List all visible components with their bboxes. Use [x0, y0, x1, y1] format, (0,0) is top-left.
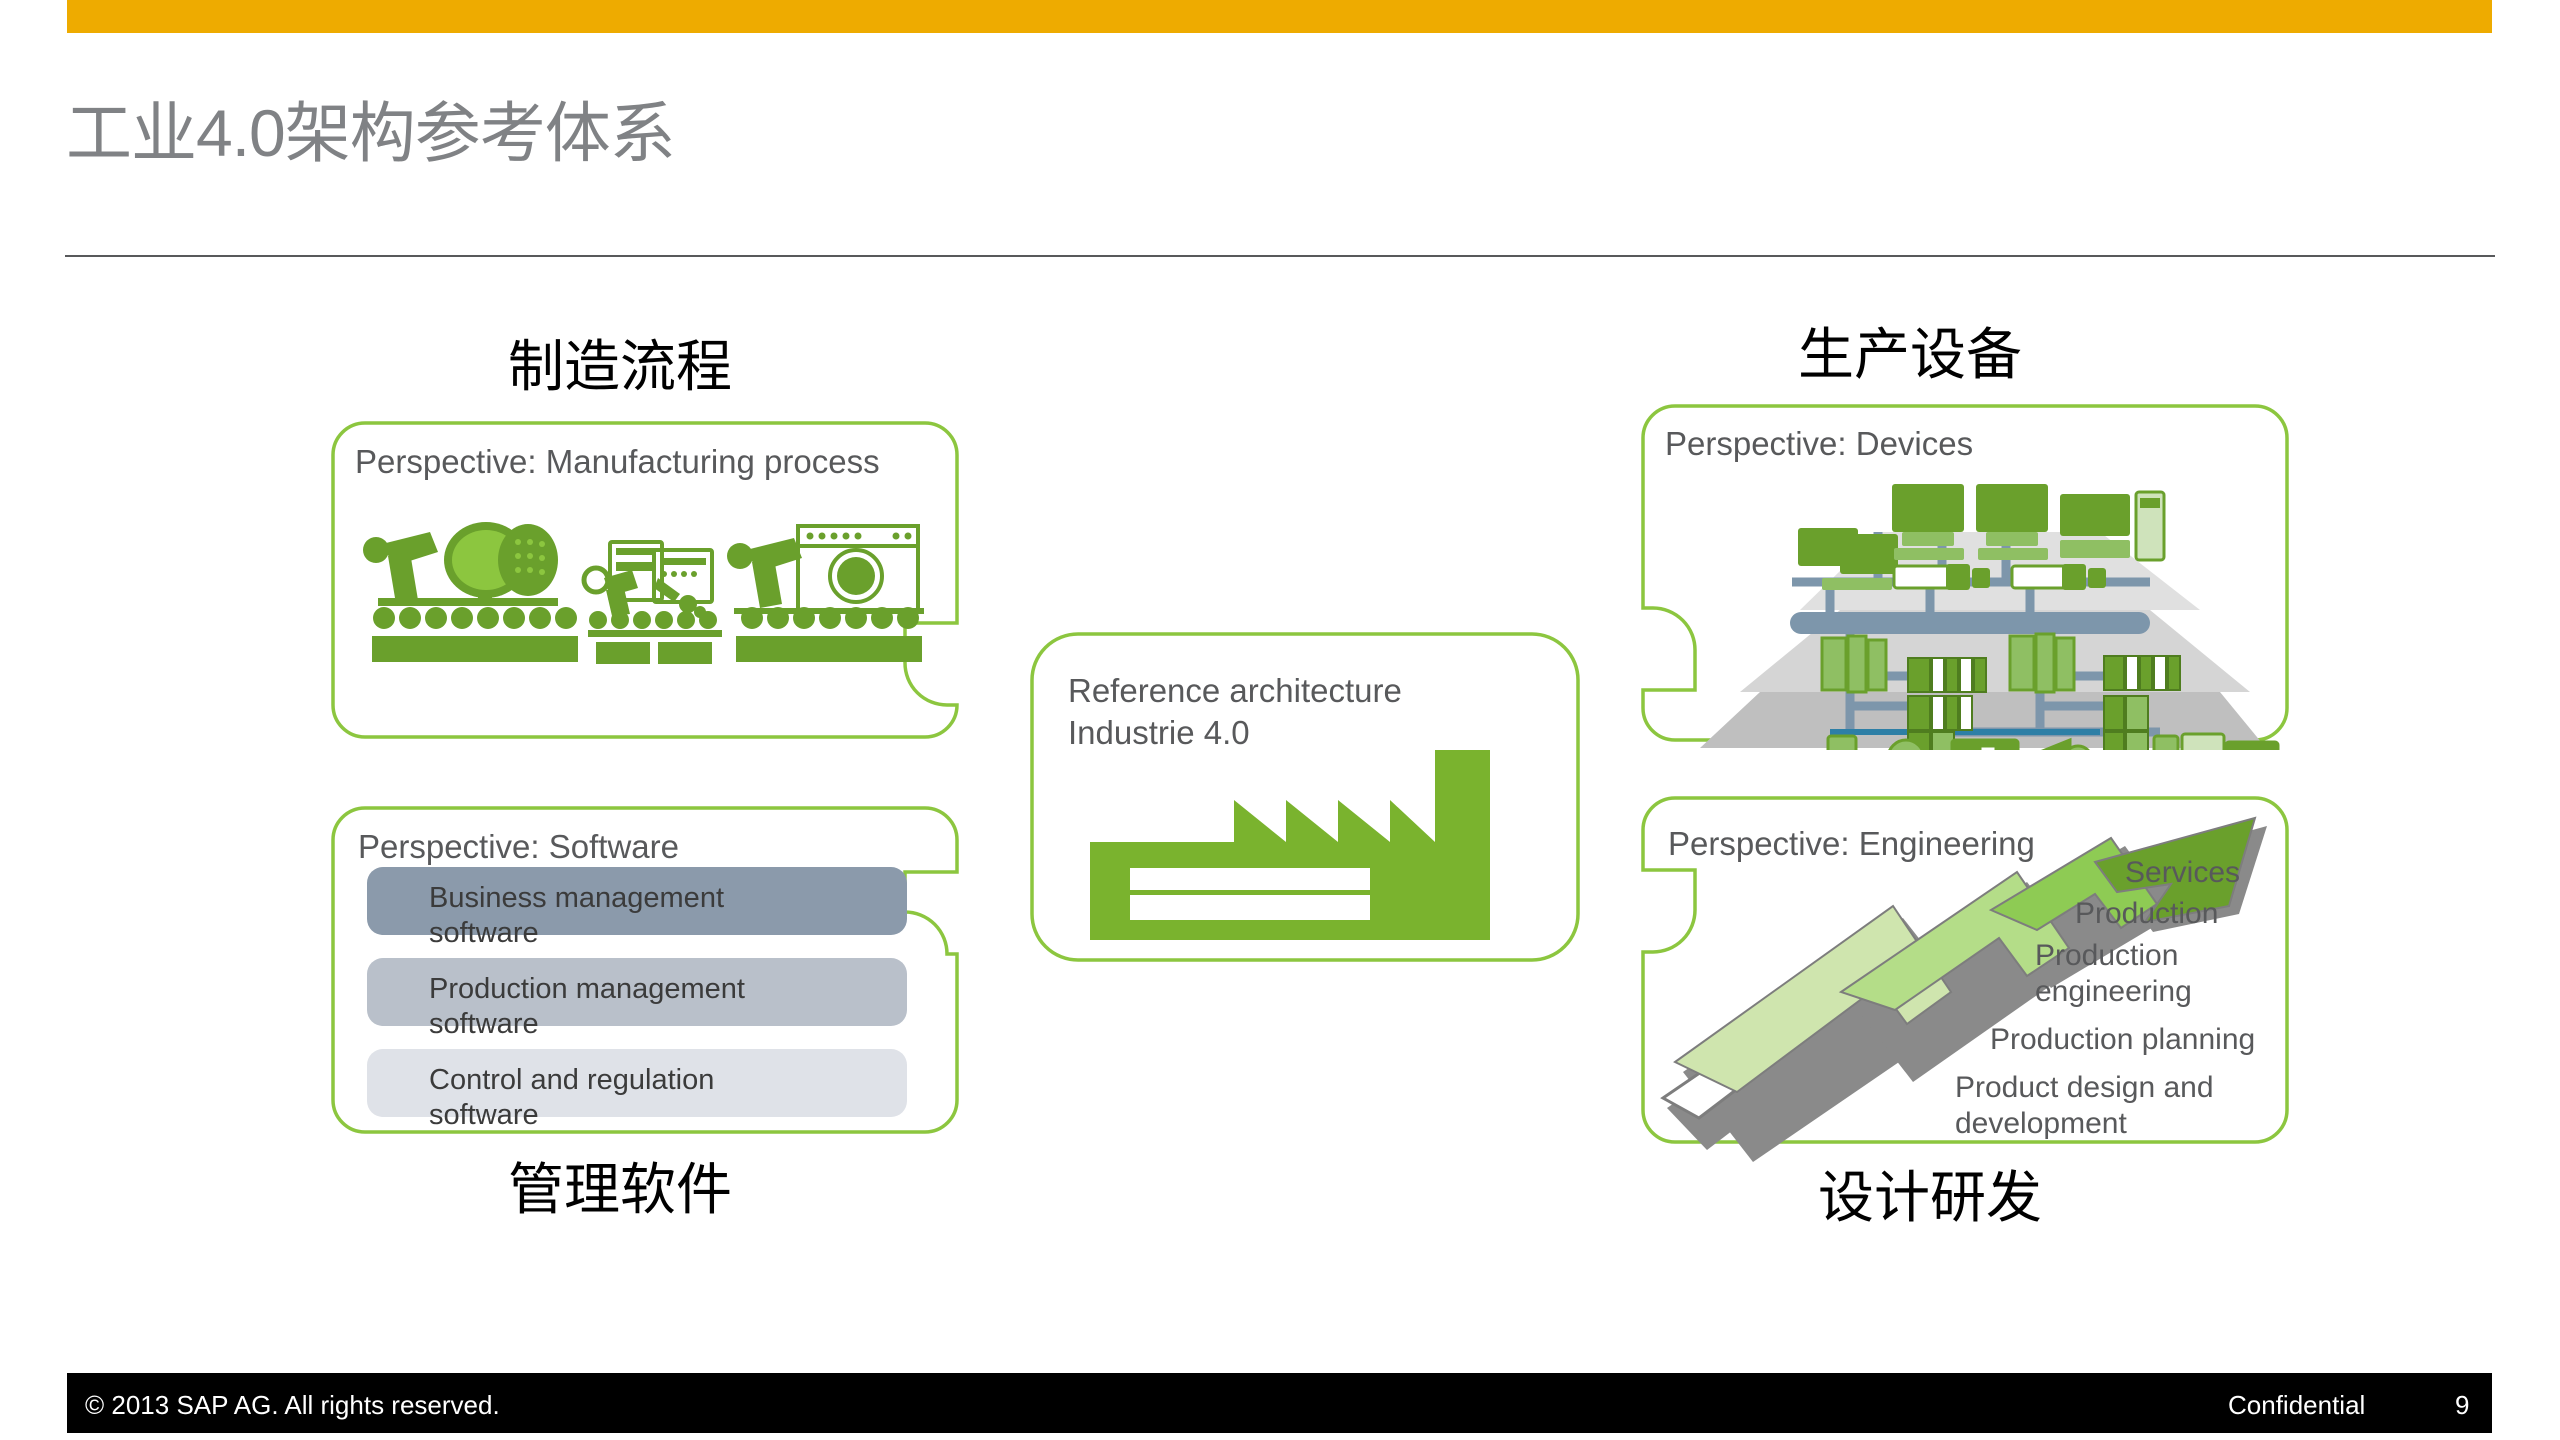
perspective-title-software: Perspective: Software — [358, 828, 679, 866]
software-bar-line1: Production management — [429, 972, 907, 1007]
page-title: 工业4.0架构参考体系 — [66, 100, 675, 166]
top-accent-bar — [67, 0, 2492, 33]
stage-line1: Production — [2035, 938, 2192, 974]
software-bar-business-management[interactable]: Business management software — [367, 867, 907, 935]
software-bar-line1: Business management — [429, 881, 907, 916]
stage-line1: Production planning — [1990, 1022, 2255, 1058]
center-title: Reference architecture Industrie 4.0 — [1068, 670, 1402, 754]
footer-page-number: 9 — [2455, 1390, 2469, 1421]
center-title-line1: Reference architecture — [1068, 670, 1402, 712]
center-title-line2: Industrie 4.0 — [1068, 712, 1402, 754]
software-bar-production-management[interactable]: Production management software — [367, 958, 907, 1026]
stage-line2: development — [1955, 1106, 2214, 1142]
production-line-icon — [358, 508, 928, 668]
software-bar-line2: software — [429, 916, 907, 951]
stage-line1: Product design and — [1955, 1070, 2214, 1106]
engineering-stage-production-engineering: Production engineering — [2035, 938, 2192, 1010]
perspective-title-manufacturing: Perspective: Manufacturing process — [355, 443, 880, 481]
engineering-stage-production: Production — [2075, 896, 2218, 932]
perspective-title-devices: Perspective: Devices — [1665, 425, 1973, 463]
caption-manufacturing-cn: 制造流程 — [508, 322, 732, 403]
stage-line2: engineering — [2035, 974, 2192, 1010]
stage-line1: Services — [2125, 855, 2240, 891]
title-divider — [65, 255, 2495, 257]
engineering-stage-product-design: Product design and development — [1955, 1070, 2214, 1142]
software-bar-line2: software — [429, 1007, 907, 1042]
software-bar-control-regulation[interactable]: Control and regulation software — [367, 1049, 907, 1117]
footer-confidential: Confidential — [2228, 1390, 2365, 1421]
automation-pyramid-icon — [1680, 470, 2280, 750]
software-bar-line1: Control and regulation — [429, 1063, 907, 1098]
stage-line1: Production — [2075, 896, 2218, 932]
reference-architecture-diagram: 制造流程 生产设备 管理软件 设计研发 Perspective: Manufac… — [0, 270, 2560, 1330]
footer-copyright: © 2013 SAP AG. All rights reserved. — [85, 1390, 500, 1421]
software-bar-line2: software — [429, 1098, 907, 1133]
factory-icon — [1090, 750, 1490, 940]
engineering-stage-production-planning: Production planning — [1990, 1022, 2255, 1058]
engineering-stage-services: Services — [2125, 855, 2240, 891]
